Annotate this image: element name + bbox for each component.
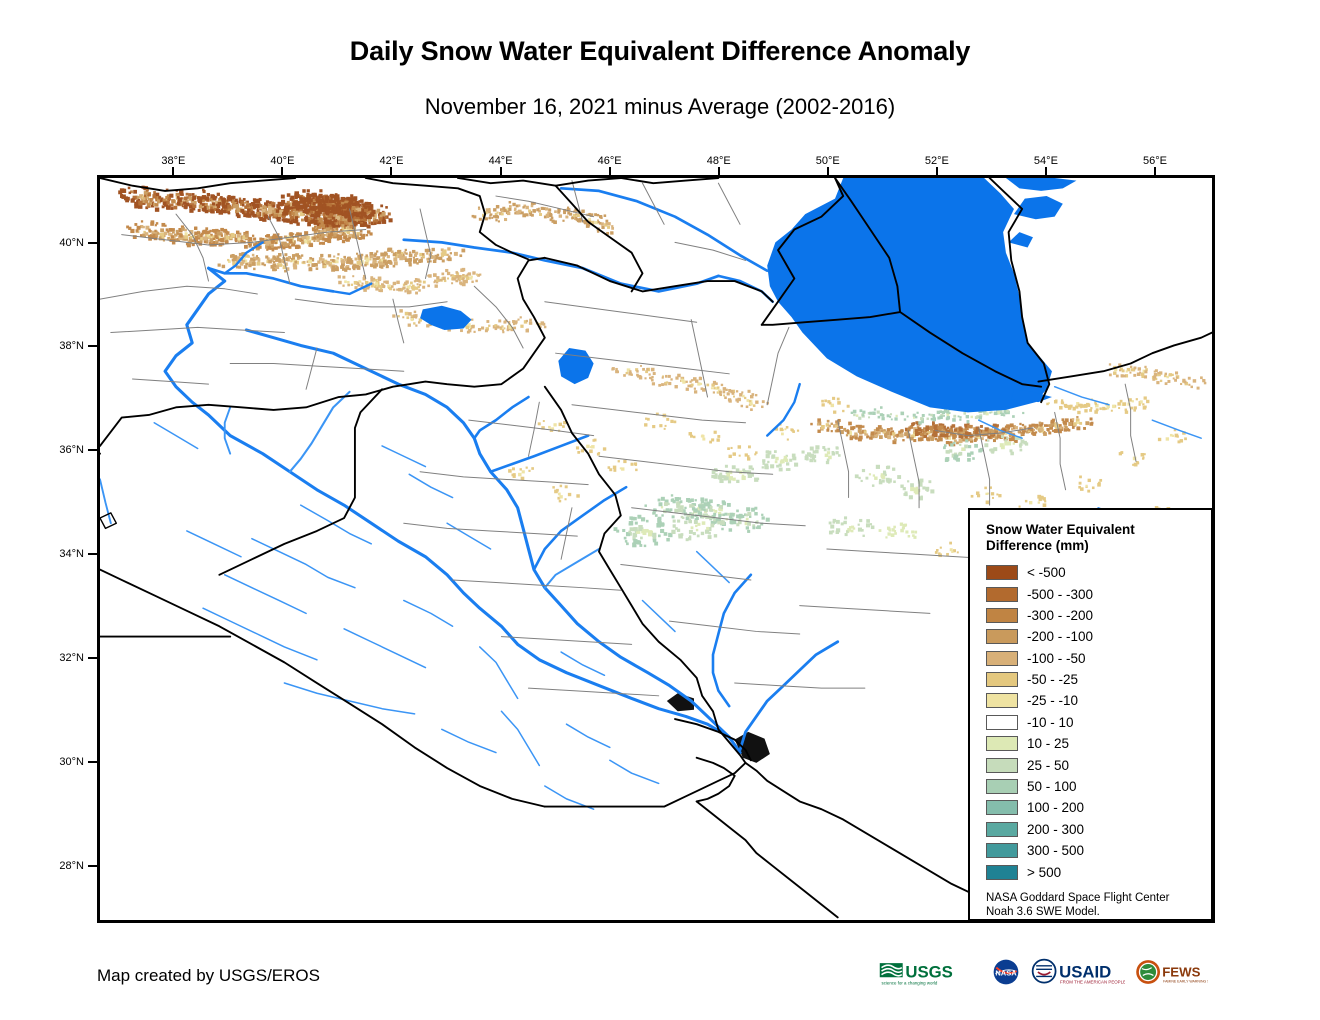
svg-text:FEWS: FEWS [1162,964,1200,979]
lat-label-38: 38°N [59,340,84,352]
legend-label: 300 - 500 [1027,843,1084,858]
legend-swatch [986,715,1018,730]
lat-label-30: 30°N [59,756,84,768]
legend-swatch [986,629,1018,644]
legend-row: 25 - 50 [986,754,1201,775]
lon-label-52: 52°E [925,155,949,167]
lon-label-50: 50°E [816,155,840,167]
legend-row: -500 - -300 [986,583,1201,604]
legend-row: -100 - -50 [986,648,1201,669]
page-title: Daily Snow Water Equivalent Difference A… [0,36,1320,67]
lat-label-32: 32°N [59,652,84,664]
legend-row: 10 - 25 [986,733,1201,754]
legend-label: -10 - 10 [1027,715,1074,730]
legend-label: > 500 [1027,865,1061,880]
legend-label: -25 - -10 [1027,693,1078,708]
legend-source-note: NASA Goddard Space Flight Center Noah 3.… [986,891,1201,920]
svg-text:FAMINE EARLY WARNING SYSTEMS N: FAMINE EARLY WARNING SYSTEMS NETWORK [1163,980,1208,984]
legend-label: 50 - 100 [1027,779,1077,794]
lat-tick-34 [88,553,97,555]
legend-label: 200 - 300 [1027,822,1084,837]
agency-logos: USGS science for a changing world NASA U… [878,955,1209,989]
lon-label-38: 38°E [161,155,185,167]
legend-panel: Snow Water Equivalent Difference (mm) < … [968,508,1213,921]
legend-swatch [986,565,1018,580]
lat-label-36: 36°N [59,444,84,456]
svg-text:science for a changing world: science for a changing world [881,980,937,985]
legend-row: > 500 [986,861,1201,882]
map-credit: Map created by USGS/EROS [97,966,320,986]
legend-label: -500 - -300 [1027,587,1093,602]
usgs-logo: USGS science for a changing world [878,957,982,987]
legend-label: 25 - 50 [1027,758,1069,773]
lat-tick-30 [88,761,97,763]
legend-swatch [986,865,1018,880]
legend-row: -200 - -100 [986,626,1201,647]
legend-label: < -500 [1027,565,1066,580]
legend-swatch [986,587,1018,602]
lon-label-40: 40°E [270,155,294,167]
lon-label-54: 54°E [1034,155,1058,167]
legend-swatch [986,779,1018,794]
nasa-logo: NASA [991,957,1021,987]
legend-swatch [986,758,1018,773]
legend-row: -50 - -25 [986,669,1201,690]
legend-swatch [986,843,1018,858]
legend-swatch [986,822,1018,837]
legend-items: < -500-500 - -300-300 - -200-200 - -100-… [986,562,1201,883]
legend-label: -100 - -50 [1027,651,1086,666]
svg-text:FROM THE AMERICAN PEOPLE: FROM THE AMERICAN PEOPLE [1060,979,1125,984]
lat-tick-36 [88,449,97,451]
legend-row: 50 - 100 [986,776,1201,797]
legend-row: < -500 [986,562,1201,583]
legend-title: Snow Water Equivalent Difference (mm) [986,522,1201,555]
lat-label-34: 34°N [59,548,84,560]
legend-label: -200 - -100 [1027,629,1093,644]
usaid-logo: USAID FROM THE AMERICAN PEOPLE [1030,957,1125,987]
legend-label: -50 - -25 [1027,672,1078,687]
lon-label-48: 48°E [707,155,731,167]
legend-row: -10 - 10 [986,712,1201,733]
legend-swatch [986,672,1018,687]
legend-row: -25 - -10 [986,690,1201,711]
lat-tick-32 [88,657,97,659]
map-page: Daily Snow Water Equivalent Difference A… [0,0,1320,1020]
legend-swatch [986,608,1018,623]
svg-text:USAID: USAID [1059,962,1111,981]
legend-label: -300 - -200 [1027,608,1093,623]
lon-label-56: 56°E [1143,155,1167,167]
lon-label-46: 46°E [598,155,622,167]
legend-swatch [986,800,1018,815]
legend-row: 200 - 300 [986,819,1201,840]
legend-swatch [986,736,1018,751]
svg-text:USGS: USGS [905,962,952,981]
lon-label-42: 42°E [379,155,403,167]
page-subtitle: November 16, 2021 minus Average (2002-20… [0,94,1320,120]
lat-tick-38 [88,345,97,347]
legend-row: 100 - 200 [986,797,1201,818]
legend-label: 100 - 200 [1027,800,1084,815]
fewsnet-logo: FEWS FAMINE EARLY WARNING SYSTEMS NETWOR… [1134,957,1208,987]
lon-label-44: 44°E [489,155,513,167]
lat-tick-28 [88,865,97,867]
legend-row: 300 - 500 [986,840,1201,861]
lat-label-28: 28°N [59,860,84,872]
lat-tick-40 [88,242,97,244]
lat-label-40: 40°N [59,237,84,249]
legend-label: 10 - 25 [1027,736,1069,751]
svg-text:NASA: NASA [995,969,1017,978]
legend-swatch [986,651,1018,666]
legend-swatch [986,693,1018,708]
legend-row: -300 - -200 [986,605,1201,626]
